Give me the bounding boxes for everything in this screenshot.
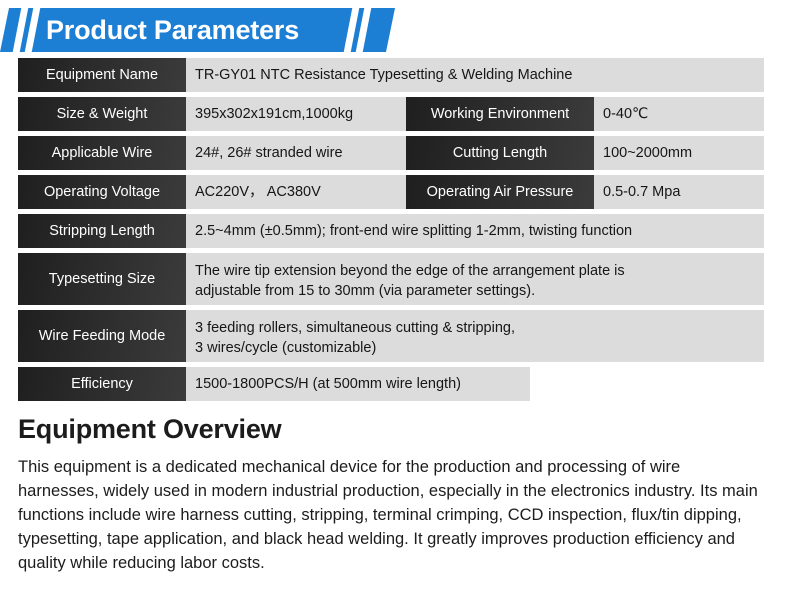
- row-value-equipment-name: TR-GY01 NTC Resistance Typesetting & Wel…: [186, 58, 764, 92]
- table-row: Applicable Wire 24#, 26# stranded wire C…: [18, 136, 764, 170]
- row-value-stripping-length: 2.5~4mm (±0.5mm); front-end wire splitti…: [186, 214, 764, 248]
- row-label-size-weight: Size & Weight: [18, 97, 186, 131]
- row-label-stripping-length: Stripping Length: [18, 214, 186, 248]
- table-row: Wire Feeding Mode 3 feeding rollers, sim…: [18, 310, 764, 362]
- row-label-cutting-length: Cutting Length: [406, 136, 594, 170]
- row-label-typesetting-size: Typesetting Size: [18, 253, 186, 305]
- page-title: Product Parameters: [46, 8, 299, 52]
- table-row: Equipment Name TR-GY01 NTC Resistance Ty…: [18, 58, 764, 92]
- row-label-efficiency: Efficiency: [18, 367, 186, 401]
- row-value-operating-air-pressure: 0.5-0.7 Mpa: [594, 175, 764, 209]
- row-value-efficiency: 1500-1800PCS/H (at 500mm wire length): [186, 367, 530, 401]
- row-label-working-environment: Working Environment: [406, 97, 594, 131]
- table-row: Size & Weight 395x302x191cm,1000kg Worki…: [18, 97, 764, 131]
- product-parameters-page: Product Parameters Equipment Name TR-GY0…: [0, 0, 790, 600]
- row-value-working-environment: 0-40℃: [594, 97, 764, 131]
- row-value-line: The wire tip extension beyond the edge o…: [195, 262, 625, 282]
- row-value-line: 3 feeding rollers, simultaneous cutting …: [195, 319, 515, 339]
- row-value-typesetting-size: The wire tip extension beyond the edge o…: [186, 253, 764, 305]
- row-label-operating-air-pressure: Operating Air Pressure: [406, 175, 594, 209]
- row-label-operating-voltage: Operating Voltage: [18, 175, 186, 209]
- row-value-cutting-length: 100~2000mm: [594, 136, 764, 170]
- section-heading-equipment-overview: Equipment Overview: [18, 414, 281, 445]
- row-value-operating-voltage: AC220V， AC380V: [186, 175, 406, 209]
- row-label-applicable-wire: Applicable Wire: [18, 136, 186, 170]
- table-row: Stripping Length 2.5~4mm (±0.5mm); front…: [18, 214, 764, 248]
- row-value-applicable-wire: 24#, 26# stranded wire: [186, 136, 406, 170]
- product-parameters-table: Equipment Name TR-GY01 NTC Resistance Ty…: [18, 58, 764, 406]
- page-header-banner: Product Parameters: [0, 8, 395, 52]
- row-value-line: 3 wires/cycle (customizable): [195, 339, 515, 359]
- table-row: Operating Voltage AC220V， AC380V Operati…: [18, 175, 764, 209]
- row-value-size-weight: 395x302x191cm,1000kg: [186, 97, 406, 131]
- row-label-wire-feeding-mode: Wire Feeding Mode: [18, 310, 186, 362]
- table-row: Typesetting Size The wire tip extension …: [18, 253, 764, 305]
- overview-paragraph: This equipment is a dedicated mechanical…: [18, 456, 762, 576]
- row-value-wire-feeding-mode: 3 feeding rollers, simultaneous cutting …: [186, 310, 764, 362]
- row-value-line: adjustable from 15 to 30mm (via paramete…: [195, 282, 625, 302]
- row-label-equipment-name: Equipment Name: [18, 58, 186, 92]
- table-row: Efficiency 1500-1800PCS/H (at 500mm wire…: [18, 367, 764, 401]
